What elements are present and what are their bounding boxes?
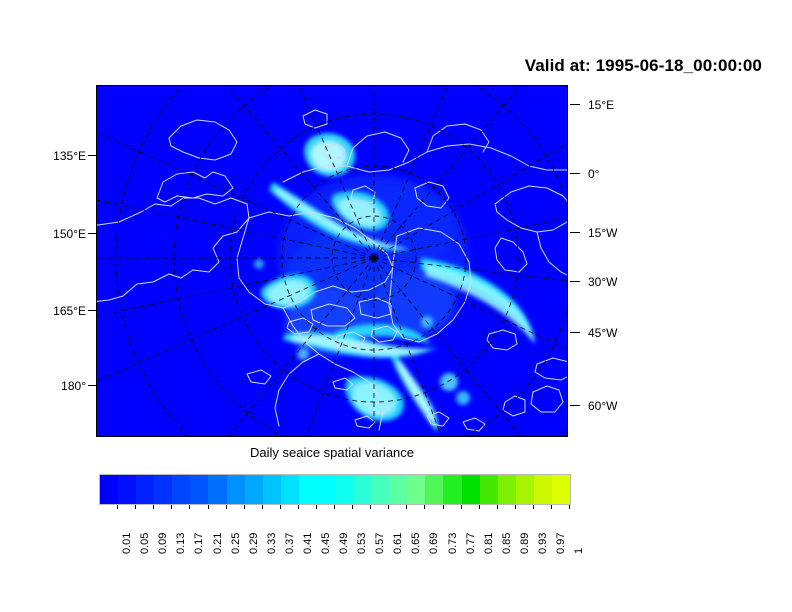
colorbar-label-13: 0.53 — [356, 533, 368, 554]
right-tick-mark-5 — [570, 405, 580, 406]
colorbar-band-14 — [353, 475, 371, 504]
colorbar — [99, 474, 571, 505]
right-tick-mark-1 — [570, 173, 580, 174]
colorbar-tick-13 — [352, 505, 353, 509]
page-title: Valid at: 1995-06-18_00:00:00 — [0, 56, 762, 76]
colorbar-tick-11 — [316, 505, 317, 509]
colorbar-label-14: 0.57 — [374, 533, 386, 554]
colorbar-label-8: 0.33 — [266, 533, 278, 554]
left-tick-mark-3 — [88, 385, 98, 386]
colorbar-label-9: 0.37 — [284, 533, 296, 554]
colorbar-band-2 — [136, 475, 154, 504]
colorbar-label-1: 0.05 — [139, 533, 151, 554]
colorbar-band-1 — [118, 475, 136, 504]
colorbar-band-3 — [154, 475, 172, 504]
map-layers — [97, 86, 567, 436]
colorbar-label-2: 0.09 — [157, 533, 169, 554]
left-tick-mark-1 — [88, 233, 98, 234]
colorbar-tick-17 — [424, 505, 425, 509]
colorbar-band-21 — [480, 475, 498, 504]
colorbar-band-7 — [227, 475, 245, 504]
colorbar-tick-6 — [226, 505, 227, 509]
colorbar-tick-marks — [99, 505, 571, 509]
right-tick-mark-3 — [570, 281, 580, 282]
colorbar-label-24: 0.97 — [555, 533, 567, 554]
left-tick-label-2: 165°E — [34, 304, 86, 318]
colorbar-label-11: 0.45 — [320, 533, 332, 554]
colorbar-caption: Daily seaice spatial variance — [96, 445, 568, 460]
right-tick-label-3: 30°W — [588, 275, 617, 289]
colorbar-tick-22 — [515, 505, 516, 509]
colorbar-tick-14 — [370, 505, 371, 509]
colorbar-tick-4 — [189, 505, 190, 509]
colorbar-label-0: 0.01 — [121, 533, 133, 554]
colorbar-band-4 — [172, 475, 190, 504]
colorbar-band-11 — [299, 475, 317, 504]
colorbar-tick-3 — [171, 505, 172, 509]
colorbar-tick-labels: 0.010.050.090.130.170.210.250.290.330.37… — [99, 510, 571, 570]
colorbar-tick-24 — [551, 505, 552, 509]
colorbar-label-19: 0.77 — [465, 533, 477, 554]
colorbar-label-20: 0.81 — [483, 533, 495, 554]
colorbar-band-16 — [389, 475, 407, 504]
left-tick-label-3: 180° — [34, 379, 86, 393]
left-tick-mark-0 — [88, 155, 98, 156]
colorbar-band-15 — [371, 475, 389, 504]
colorbar-tick-7 — [244, 505, 245, 509]
colorbar-tick-18 — [443, 505, 444, 509]
left-tick-label-0: 135°E — [34, 149, 86, 163]
colorbar-label-10: 0.41 — [302, 533, 314, 554]
colorbar-tick-16 — [406, 505, 407, 509]
colorbar-band-13 — [335, 475, 353, 504]
right-tick-label-0: 15°E — [588, 98, 614, 112]
colorbar-tick-15 — [388, 505, 389, 509]
colorbar-tick-5 — [208, 505, 209, 509]
colorbar-label-3: 0.13 — [175, 533, 187, 554]
right-tick-mark-2 — [570, 232, 580, 233]
colorbar-tick-2 — [153, 505, 154, 509]
colorbar-label-17: 0.69 — [428, 533, 440, 554]
colorbar-tick-21 — [497, 505, 498, 509]
colorbar-band-9 — [263, 475, 281, 504]
colorbar-band-19 — [443, 475, 461, 504]
colorbar-tick-9 — [280, 505, 281, 509]
colorbar-band-17 — [407, 475, 425, 504]
colorbar-band-24 — [534, 475, 552, 504]
colorbar-tick-8 — [262, 505, 263, 509]
colorbar-band-5 — [190, 475, 208, 504]
colorbar-band-23 — [516, 475, 534, 504]
colorbar-tick-1 — [135, 505, 136, 509]
colorbar-label-22: 0.89 — [519, 533, 531, 554]
colorbar-tick-10 — [298, 505, 299, 509]
colorbar-band-25 — [552, 475, 570, 504]
colorbar-tick-20 — [479, 505, 480, 509]
colorbar-band-20 — [462, 475, 480, 504]
colorbar-tick-25 — [569, 505, 570, 509]
colorbar-label-7: 0.29 — [248, 533, 260, 554]
colorbar-band-18 — [425, 475, 443, 504]
colorbar-label-21: 0.85 — [501, 533, 513, 554]
colorbar-tick-19 — [461, 505, 462, 509]
right-tick-label-5: 60°W — [588, 399, 617, 413]
colorbar-band-0 — [100, 475, 118, 504]
colorbar-label-16: 0.65 — [410, 533, 422, 554]
map-plot-area — [96, 85, 568, 437]
colorbar-label-25: 1 — [573, 548, 585, 554]
colorbar-label-18: 0.73 — [447, 533, 459, 554]
colorbar-label-15: 0.61 — [392, 533, 404, 554]
left-tick-mark-2 — [88, 310, 98, 311]
colorbar-band-6 — [208, 475, 226, 504]
colorbar-label-4: 0.17 — [193, 533, 205, 554]
colorbar-band-8 — [245, 475, 263, 504]
colorbar-label-23: 0.93 — [537, 533, 549, 554]
colorbar-tick-23 — [533, 505, 534, 509]
right-tick-label-1: 0° — [588, 167, 599, 181]
right-tick-label-4: 45°W — [588, 326, 617, 340]
left-tick-label-1: 150°E — [34, 227, 86, 241]
colorbar-band-10 — [281, 475, 299, 504]
right-tick-mark-0 — [570, 104, 580, 105]
right-tick-mark-4 — [570, 332, 580, 333]
colorbar-band-12 — [317, 475, 335, 504]
colorbar-label-6: 0.25 — [230, 533, 242, 554]
colorbar-tick-12 — [334, 505, 335, 509]
right-tick-label-2: 15°W — [588, 226, 617, 240]
colorbar-tick-0 — [117, 505, 118, 509]
colorbar-label-12: 0.49 — [338, 533, 350, 554]
colorbar-band-22 — [498, 475, 516, 504]
colorbar-label-5: 0.21 — [212, 533, 224, 554]
